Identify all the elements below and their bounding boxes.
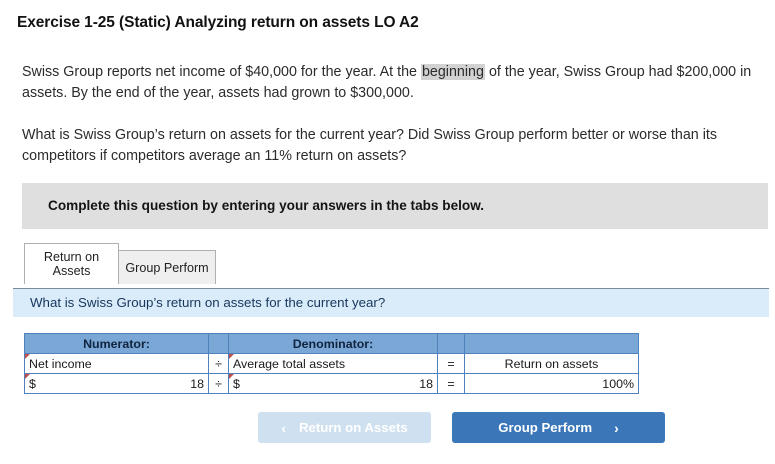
header-operator-blank — [209, 334, 229, 354]
previous-tab-button-label: Return on Assets — [299, 420, 408, 435]
highlighted-term: beginning — [421, 64, 485, 80]
calculation-table: Numerator: Denominator: Net income ÷ Ave… — [24, 333, 639, 394]
cell-equals-value: = — [438, 374, 465, 394]
denominator-amount: 18 — [419, 377, 433, 391]
header-result-blank — [465, 334, 639, 354]
next-tab-button-label: Group Perform — [498, 420, 592, 435]
previous-tab-button[interactable]: ‹ Return on Assets — [258, 412, 431, 443]
tab-group-perform[interactable]: Group Perform — [118, 250, 216, 284]
cell-result-label: Return on assets — [465, 354, 639, 374]
table-header-row: Numerator: Denominator: — [25, 334, 639, 354]
page-title: Exercise 1-25 (Static) Analyzing return … — [17, 14, 419, 32]
tab-return-on-assets[interactable]: Return on Assets — [24, 243, 119, 284]
numerator-currency-symbol: $ — [29, 377, 36, 391]
tab-return-on-assets-label: Return on Assets — [25, 250, 118, 278]
problem-statement: Swiss Group reports net income of $40,00… — [22, 62, 764, 188]
next-tab-button[interactable]: Group Perform › — [452, 412, 665, 443]
instruction-banner: Complete this question by entering your … — [22, 183, 768, 229]
numerator-amount: 18 — [190, 377, 204, 391]
navigation-button-bar: ‹ Return on Assets Group Perform › — [0, 412, 775, 444]
header-denominator: Denominator: — [229, 334, 438, 354]
header-numerator: Numerator: — [25, 334, 209, 354]
cell-denominator-value[interactable]: $ 18 — [229, 374, 438, 394]
cell-numerator-value[interactable]: $ 18 — [25, 374, 209, 394]
denominator-currency-symbol: $ — [233, 377, 240, 391]
cell-operator-divide-value: ÷ — [209, 374, 229, 394]
cell-numerator-label[interactable]: Net income — [25, 354, 209, 374]
cell-equals-label: = — [438, 354, 465, 374]
question-bar-text: What is Swiss Group’s return on assets f… — [30, 295, 385, 310]
header-equals-blank — [438, 334, 465, 354]
chevron-right-icon: › — [614, 421, 619, 435]
problem-paragraph-2: What is Swiss Group’s return on assets f… — [22, 125, 764, 167]
tab-group-perform-label: Group Perform — [125, 261, 208, 275]
cell-denominator-label[interactable]: Average total assets — [229, 354, 438, 374]
instruction-text: Complete this question by entering your … — [48, 198, 484, 213]
question-bar: What is Swiss Group’s return on assets f… — [13, 288, 769, 317]
problem-paragraph-1: Swiss Group reports net income of $40,00… — [22, 62, 764, 104]
cell-result-value: 100% — [465, 374, 639, 394]
chevron-left-icon: ‹ — [281, 421, 286, 435]
table-value-row: $ 18 ÷ $ 18 = 100% — [25, 374, 639, 394]
tab-bar: Return on Assets Group Perform — [24, 243, 216, 284]
cell-operator-divide-label: ÷ — [209, 354, 229, 374]
problem-text-before-highlight: Swiss Group reports net income of $40,00… — [22, 64, 421, 80]
table-label-row: Net income ÷ Average total assets = Retu… — [25, 354, 639, 374]
